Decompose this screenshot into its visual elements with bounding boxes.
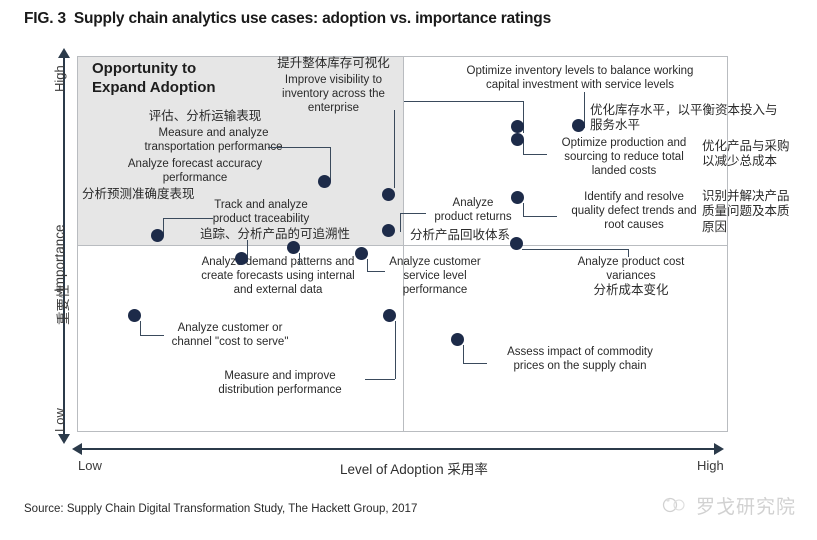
label-optimize-inventory-en: Optimize inventory levels to balance wor… — [432, 64, 728, 92]
label-traceability-cn: 追踪、分析产品的可追溯性 — [170, 227, 380, 242]
leader-distribution-v — [395, 321, 396, 379]
label-cost-variances-en: Analyze product cost variances — [556, 255, 706, 283]
data-point-improve-visibility[interactable] — [382, 188, 395, 201]
label-measure-transport-cn: 评估、分析运输表现 — [110, 109, 300, 124]
leader-forecast-accuracy-h — [163, 218, 213, 219]
leader-measure-transport-v — [330, 147, 331, 181]
data-point-measure-transport[interactable] — [318, 175, 331, 188]
x-axis-arrow-right-icon — [714, 443, 724, 455]
data-point-customer-service[interactable] — [355, 247, 368, 260]
leader-product-returns-h — [400, 213, 426, 214]
leader-cost-to-serve-v — [140, 321, 141, 335]
data-point-quality-defects[interactable] — [511, 191, 524, 204]
y-axis-label-low: Low — [52, 408, 67, 432]
page-title: FIG. 3Supply chain analytics use cases: … — [24, 10, 551, 28]
watermark-text: 罗戈研究院 — [696, 492, 796, 519]
leader-distribution-h — [365, 379, 395, 380]
label-measure-transport-en: Measure and analyze transportation perfo… — [106, 126, 321, 154]
data-point-distribution[interactable] — [383, 309, 396, 322]
data-point-optimize-production-a[interactable] — [511, 120, 524, 133]
leader-quality-defects-h — [523, 216, 557, 217]
x-axis-arrow-left-icon — [72, 443, 82, 455]
leader-customer-service-h — [367, 271, 385, 272]
logo-icon — [662, 494, 688, 516]
leader-product-returns-v — [400, 213, 401, 232]
leader-improve-visibility — [394, 110, 395, 188]
label-optimize-production-en: Optimize production and sourcing to redu… — [548, 136, 700, 178]
leader-cost-to-serve-h — [140, 335, 164, 336]
label-cost-to-serve-en: Analyze customer or channel "cost to ser… — [152, 321, 308, 349]
leader-commodity-v — [463, 345, 464, 363]
x-axis-label-high: High — [697, 458, 724, 473]
label-commodity-en: Assess impact of commodity prices on the… — [488, 345, 672, 373]
x-axis-label-low: Low — [78, 458, 102, 473]
data-point-traceability[interactable] — [235, 252, 248, 265]
leader-quality-defects-v — [523, 203, 524, 216]
label-quality-defects-en: Identify and resolve quality defect tren… — [560, 190, 708, 232]
y-axis-title-cn: 重要性 — [52, 285, 72, 326]
data-point-commodity[interactable] — [451, 333, 464, 346]
figure-title-text: Supply chain analytics use cases: adopti… — [74, 10, 551, 27]
y-axis-arrow-up-icon — [58, 48, 70, 58]
source-note: Source: Supply Chain Digital Transformat… — [24, 503, 417, 515]
quadrant-divider-horizontal — [78, 245, 728, 246]
figure-number: FIG. 3 — [24, 10, 66, 27]
label-quality-defects-cn: 识别并解决产品 质量问题及本质 原因 — [702, 189, 817, 235]
label-optimize-production-cn: 优化产品与采购 以减少总成本 — [702, 139, 817, 170]
label-improve-visibility-cn: 提升整体库存可视化 — [256, 56, 411, 71]
leader-commodity-h — [463, 363, 487, 364]
label-forecast-accuracy-en: Analyze forecast accuracy performance — [100, 157, 290, 185]
data-point-optimize-inventory[interactable] — [572, 119, 585, 132]
leader-measure-transport-h — [268, 147, 330, 148]
label-traceability-en: Track and analyze product traceability — [186, 198, 336, 226]
leader-cost-variances-h — [522, 249, 628, 250]
leader-cost-variances-v — [628, 249, 629, 257]
x-axis-title: Level of Adoption 采用率 — [340, 458, 488, 478]
quadrant-title-line2: Expand Adoption — [92, 79, 216, 98]
y-axis-arrow-down-icon — [58, 434, 70, 444]
y-axis-label-high: High — [52, 65, 67, 92]
label-cost-variances-cn: 分析成本变化 — [556, 283, 706, 298]
label-product-returns-cn: 分析产品回收体系 — [410, 228, 560, 243]
label-distribution-en: Measure and improve distribution perform… — [200, 369, 360, 397]
data-point-forecast-accuracy[interactable] — [151, 229, 164, 242]
data-point-demand-patterns[interactable] — [287, 241, 300, 254]
data-point-cost-to-serve[interactable] — [128, 309, 141, 322]
leader-optimize-production-bot-h — [523, 154, 547, 155]
label-optimize-inventory-cn: 优化库存水平，以平衡资本投入与 服务水平 — [590, 103, 817, 134]
label-demand-patterns-en: Analyze demand patterns and create forec… — [167, 255, 389, 297]
figure-root: FIG. 3Supply chain analytics use cases: … — [0, 0, 817, 540]
leader-optimize-production-top-h — [404, 101, 523, 102]
data-point-cost-variances[interactable] — [510, 237, 523, 250]
label-customer-service-en: Analyze customer service level performan… — [376, 255, 494, 297]
quadrant-title-line1: Opportunity to — [92, 60, 216, 79]
quadrant-title: Opportunity to Expand Adoption — [92, 60, 216, 98]
data-point-optimize-production-b[interactable] — [511, 133, 524, 146]
leader-demand-patterns — [299, 253, 300, 265]
y-axis-title: Importance — [52, 224, 67, 292]
watermark: 罗戈研究院 — [660, 486, 805, 528]
x-axis-line — [78, 448, 718, 450]
data-point-product-returns[interactable] — [382, 224, 395, 237]
leader-customer-service-v — [367, 259, 368, 271]
